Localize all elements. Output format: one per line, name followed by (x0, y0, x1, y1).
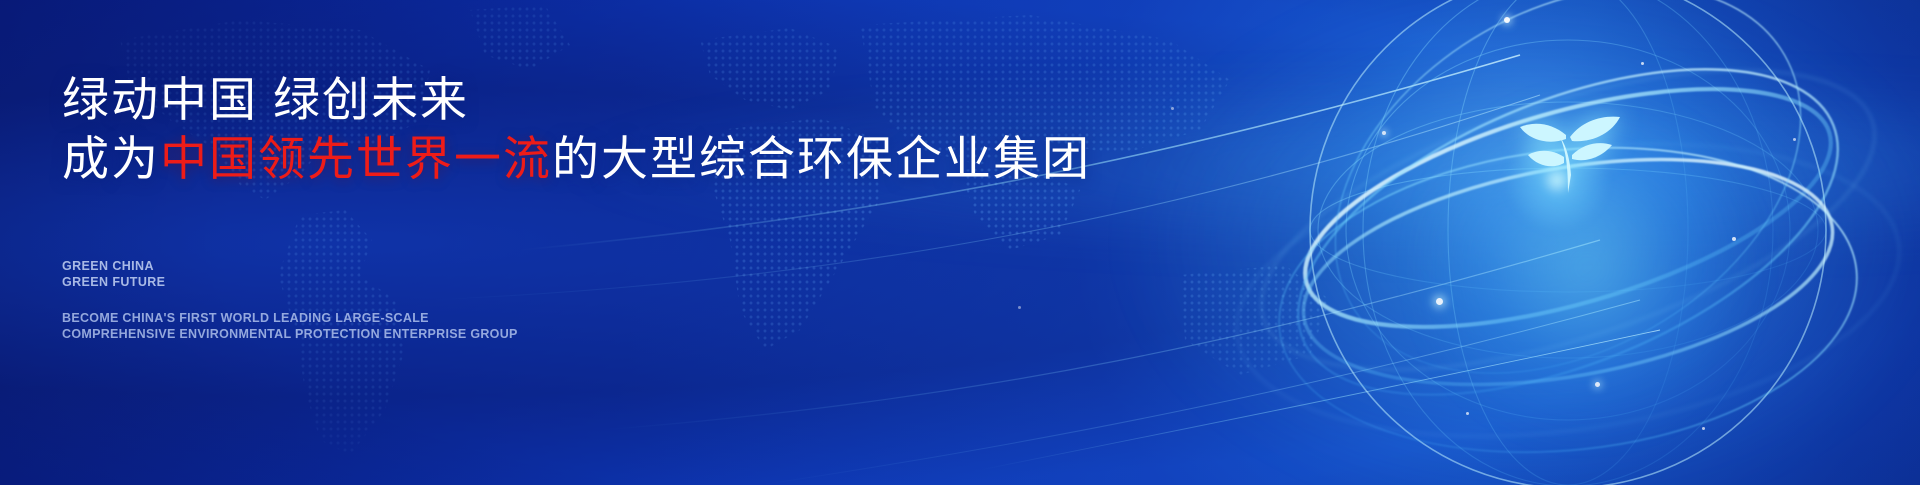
sparkle (1702, 427, 1705, 430)
headline-suffix: 的大型综合环保企业集团 (552, 132, 1091, 185)
globe-icon (1200, 0, 1920, 485)
globe-core-flare (1497, 120, 1617, 240)
headline-line-1: 绿动中国 绿创未来 (62, 72, 1091, 127)
hero-banner: 绿动中国 绿创未来 成为中国领先世界一流的大型综合环保企业集团 GREEN CH… (0, 0, 1920, 485)
sparkle (1641, 62, 1644, 65)
sparkle (1382, 131, 1386, 135)
headline-highlight: 中国领先世界一流 (160, 132, 552, 185)
english-slogan: GREEN CHINA GREEN FUTURE (62, 258, 165, 291)
english-tagline-line-2: COMPREHENSIVE ENVIRONMENTAL PROTECTION E… (62, 326, 518, 342)
orbit-rings-icon (1200, 0, 1920, 485)
sparkle (1018, 306, 1021, 309)
sparkle (1466, 412, 1469, 415)
english-slogan-line-2: GREEN FUTURE (62, 274, 165, 290)
headline-line-2: 成为中国领先世界一流的大型综合环保企业集团 (62, 131, 1091, 186)
headline-prefix: 成为 (62, 132, 160, 185)
headline-block: 绿动中国 绿创未来 成为中国领先世界一流的大型综合环保企业集团 (62, 72, 1091, 187)
sparkle (1436, 298, 1443, 305)
sparkle (1595, 382, 1600, 387)
sprout-icon (1508, 85, 1628, 205)
globe-glow (1413, 93, 1763, 443)
english-tagline: BECOME CHINA'S FIRST WORLD LEADING LARGE… (62, 310, 518, 343)
sparkle (1171, 107, 1174, 110)
english-slogan-line-1: GREEN CHINA (62, 258, 165, 274)
sparkle (1732, 237, 1736, 241)
english-tagline-line-1: BECOME CHINA'S FIRST WORLD LEADING LARGE… (62, 310, 518, 326)
sparkle (1504, 17, 1510, 23)
sparkle (1793, 138, 1796, 141)
